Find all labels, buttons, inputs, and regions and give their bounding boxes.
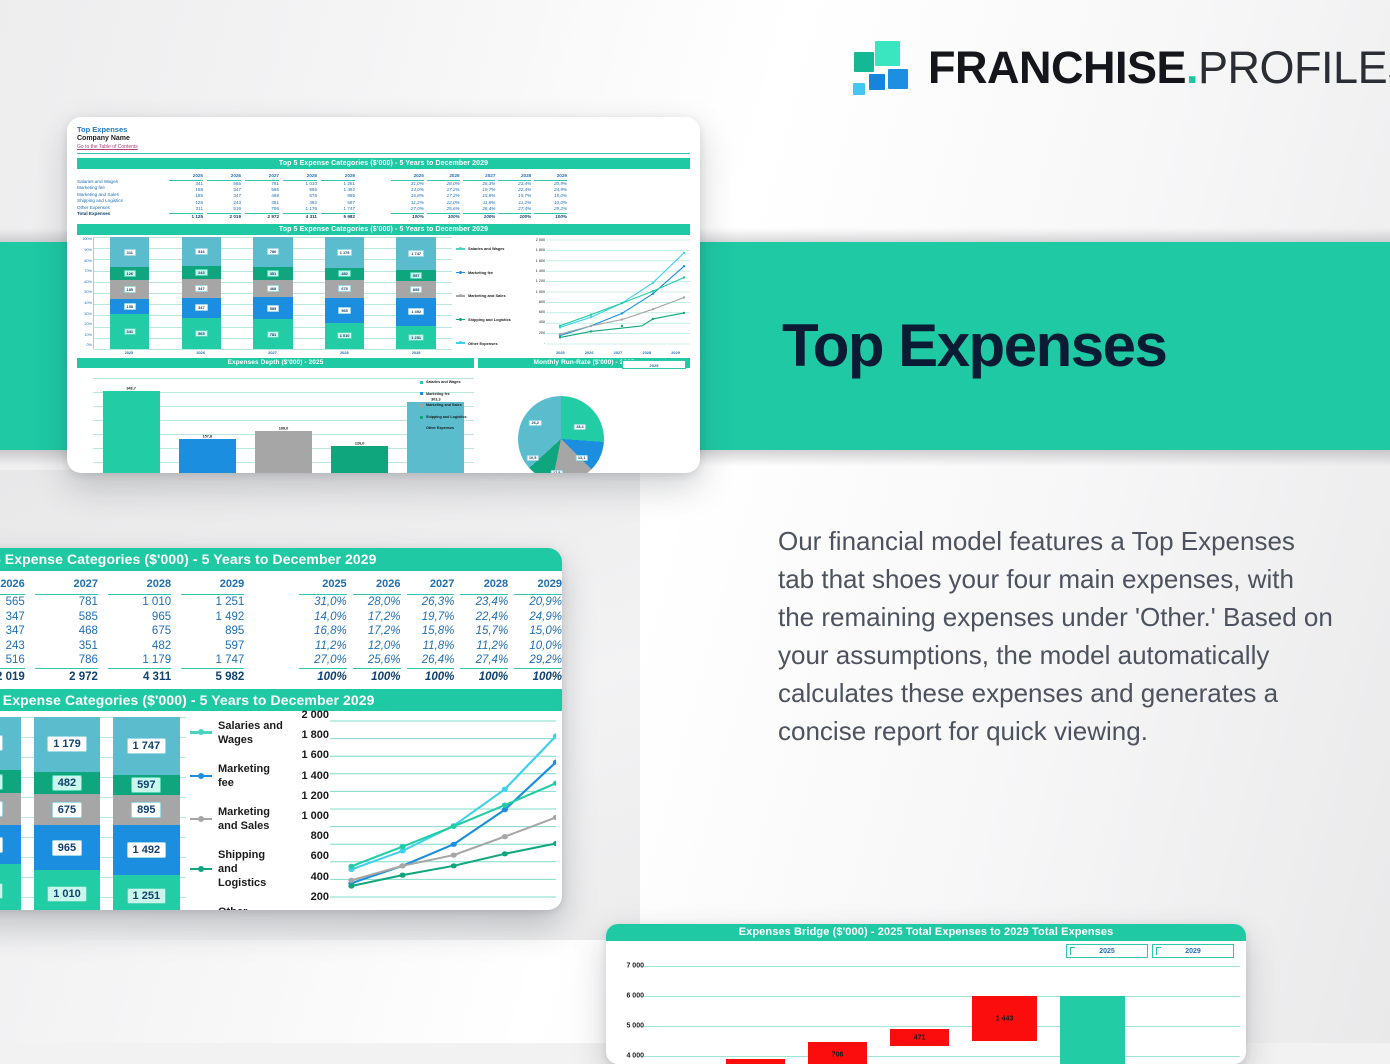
segment-value: 468 [0,801,3,817]
pie-label: 10,5 [526,455,538,461]
table-cell: 781 [35,595,98,610]
column-bar: 189,0 [255,431,312,473]
table-cell: 347 [0,610,25,625]
pct-cell: 31,0% [299,595,347,610]
pct-cell: 27,4% [460,653,508,668]
bar-group: 311 126 185 158 341 516 243 347 347 565 [94,237,452,349]
line-plot-area [546,237,690,355]
axis-tick: 80% [84,259,92,263]
pct-cell: 15,7% [460,624,508,639]
legend-item: Marketing fee [190,762,286,790]
pct-cell-total: 100% [514,668,562,685]
legend-item: Shipping and Logistics [456,317,530,322]
axis-tick: 200 [311,891,329,903]
segment-value: 351 [0,774,3,790]
expense-table: Salaries and Wages Marketing fee Marketi… [77,172,690,220]
expense-table-zoomed: 2026 2027 2028 2029 565 781 1 010 1 251 … [0,571,562,684]
logo-dot: . [1186,42,1198,93]
screenshot-card-categories-detail[interactable]: Top 5 Expense Categories ($'000) - 5 Yea… [0,548,562,910]
logo-square-3 [888,69,908,89]
segment-value: 243 [195,269,208,276]
table-cell: 1 179 [108,653,171,668]
table-gap [355,172,391,220]
x-tick: 2029 [396,350,435,355]
table-cell: 786 [35,653,98,668]
header-divider [77,153,690,154]
axis-tick: 400 [539,320,545,324]
logo-square-2 [854,52,874,72]
line-chart-top: 2 000 1 800 1 600 1 400 1 200 1 000 800 … [530,237,690,355]
segment-value: 675 [52,802,82,818]
axis-tick: 100% [82,237,92,241]
section-band-bridge: Expenses Bridge ($'000) - 2025 Total Exp… [606,924,1246,941]
segment-value: 351 [267,270,280,277]
legend-item: Other Expenses [190,905,286,910]
pct-cell-total: 100% [463,213,496,220]
pct-cell: 19,7% [407,610,455,625]
legend-swatch-icon [190,775,212,778]
segment-value: 341 [124,328,137,335]
table-cell: 565 [0,595,25,610]
column-bar: 157,8 [179,439,236,473]
waterfall-bar: 706 [808,1042,867,1064]
percent-axis: 100% 90% 80% 70% 60% 50% 40% 30% 20% 10%… [77,237,93,355]
segment-value: 965 [52,840,82,856]
axis-tick: 600 [539,310,545,314]
pie-label: 17,5 [550,470,562,473]
segment-value: 1 010 [47,886,87,902]
pct-cell: 12,0% [353,639,401,654]
axis-tick: 1 800 [301,729,329,741]
pie-label: 26,2 [529,420,541,426]
stacked-plot-area: 311 126 185 158 341 516 243 347 347 565 [93,237,452,349]
screenshot-card-expenses-bridge[interactable]: Expenses Bridge ($'000) - 2025 Total Exp… [606,924,1246,1064]
segment-value: 1 492 [127,842,167,858]
percent-grid: 2025 2026 2027 2028 2029 31,0% 28,0% 26,… [299,577,562,684]
axis-tick: 40% [84,301,92,305]
section-band-categories-2: Top 5 Expense Categories ($'000) - 5 Yea… [0,689,562,711]
column-bar: 348,7 [103,391,160,473]
legend-swatch-icon [190,731,212,734]
legend-swatch-icon [420,404,423,407]
column-header: 2029 [514,577,562,595]
bar-group: 786 351 468 585 781 1 179 482 675 965 1 … [0,717,186,910]
pct-cell: 20,9% [514,595,562,610]
segment-value: 1 747 [127,738,167,754]
pct-cell: 11,8% [407,639,455,654]
pct-cell: 11,2% [299,639,347,654]
pct-cell: 15,8% [407,624,455,639]
stacked-bar: 311 126 185 158 341 [110,237,149,349]
axis-tick: 7 000 [626,963,644,970]
pct-cell: 29,2% [514,653,562,668]
table-cell: 351 [35,639,98,654]
table-cell: 1 010 [108,595,171,610]
section-band-depth: Expenses Depth ($'000) - 2025 [77,358,474,368]
table-row-labels: Salaries and Wages Marketing fee Marketi… [77,172,169,220]
axis-tick: 1 600 [301,749,329,761]
section-band-categories-2: Top 5 Expense Categories ($'000) - 5 Yea… [77,224,690,235]
pct-cell-total: 100% [407,668,455,685]
segment-value: 1 251 [127,888,167,904]
stacked-bar-chart-zoomed: 786 351 468 585 781 1 179 482 675 965 1 … [0,711,186,910]
axis-tick: 60% [84,280,92,284]
waterfall-value: 706 [832,1051,844,1058]
pct-cell: 17,2% [353,624,401,639]
axis-tick: 600 [311,850,329,862]
axis-tick: 1 200 [301,790,329,802]
column-header: 2026 [353,577,401,595]
segment-value: 786 [267,248,280,255]
x-tick: 2029 [668,350,684,355]
segment-value: 347 [195,304,208,311]
axis-tick: 0% [87,343,93,347]
segment-value: 1 179 [47,736,87,752]
pct-cell: 17,2% [353,610,401,625]
column-header: 2029 [534,172,567,181]
legend-swatch-icon [190,818,212,821]
stacked-bar: 786 351 468 585 781 [253,237,292,349]
segment-value: 1 251 [408,334,424,341]
pct-cell: 16,8% [299,624,347,639]
y-axis: 2 000 1 800 1 600 1 400 1 200 1 000 800 … [286,711,330,910]
waterfall-bars: 706 471 1 443 [650,941,1236,1064]
legend-swatch-icon [420,427,423,430]
segment-value: 585 [0,837,3,853]
table-of-contents-link[interactable]: Go to the Table of Contents [77,144,690,150]
column-value: 189,0 [279,427,289,431]
segment-value: 781 [267,331,280,338]
pct-cell: 25,6% [353,653,401,668]
legend-swatch-icon [456,319,465,321]
legend-item: Marketing fee [456,270,530,275]
column-header: 2027 [407,577,455,595]
y-axis: 7 000 6 000 5 000 4 000 [610,941,644,1064]
table-cell: 1 747 [181,653,244,668]
segment-value: 597 [131,777,161,793]
stacked-bar: 516 243 347 347 565 [182,237,221,349]
axis-tick: 800 [539,300,545,304]
runrate-year-tag[interactable]: 2025 [622,360,686,369]
waterfall-bar: 1 443 [972,996,1036,1041]
axis-tick: 20% [84,322,92,326]
segment-value: 516 [195,248,208,255]
expenses-depth-chart: 348,7 157,8 189,0 126,0 303,3 Salaries a… [77,370,478,473]
pct-cell: 10,0% [514,639,562,654]
stacked-plot-area: 786 351 468 585 781 1 179 482 675 965 1 … [0,717,186,910]
column-value: 157,8 [203,435,213,439]
sheet-title: Top Expenses [77,125,690,134]
screenshot-card-top-expenses[interactable]: Top Expenses Company Name Go to the Tabl… [67,117,700,473]
pct-cell: 26,4% [407,653,455,668]
column-header: 2027 [463,172,496,181]
logo-squares-icon [852,38,912,96]
axis-tick: 1 600 [536,259,545,263]
axis-tick: 5 000 [626,1023,644,1030]
segment-value: 565 [195,330,208,337]
pct-cell-total: 100% [498,213,531,220]
table-cell: 1 251 [181,595,244,610]
axis-tick: 2 000 [301,709,329,721]
table-cell-total: 5 982 [321,213,355,220]
axis-tick: 6 000 [626,993,644,1000]
table-cell: 243 [0,639,25,654]
waterfall-bar [726,1059,785,1064]
segment-value: 158 [124,303,137,310]
table-cell-total: 2 019 [207,213,241,220]
axis-tick: 1 400 [301,770,329,782]
logo-wordmark: FRANCHISE.PROFILES [928,45,1390,90]
pct-cell-total: 100% [353,668,401,685]
page-title: Top Expenses [782,311,1166,380]
table-cell-total: 5 982 [181,668,244,685]
pct-cell: 24,9% [514,610,562,625]
pct-cell-total: 100% [427,213,460,220]
table-cell: 1 492 [181,610,244,625]
x-axis-categories: 2025 2026 2027 2028 2029 [546,350,690,355]
intro-paragraph: Our financial model features a Top Expen… [778,522,1334,750]
values-grid: 2026 2027 2028 2029 565 781 1 010 1 251 … [0,577,244,684]
pie-label: 28,4 [574,424,586,430]
axis-tick: 10% [84,333,92,337]
line-plot-area [330,717,556,910]
logo-square-5 [853,83,865,95]
axis-tick: 70% [84,269,92,273]
pct-cell: 11,2% [460,639,508,654]
segment-value: 675 [338,285,351,292]
axis-tick: 90% [84,248,92,252]
row-label-total: Total Expenses [77,211,169,217]
axis-tick: 4 000 [626,1053,644,1060]
waterfall-plot: 7 000 6 000 5 000 4 000 706 471 1 443 [606,941,1246,1064]
column-header: 2029 [181,577,244,595]
segment-value: 786 [0,735,3,751]
column-header: 2029 [321,172,355,181]
pct-cell-total: 100% [391,213,424,220]
legend-item: Shipping and Logistics [190,848,286,890]
table-cell: 468 [35,624,98,639]
legend-item: Other Expenses [420,426,482,431]
column-header: 2028 [460,577,508,595]
chart-legend: Salaries and Wages Marketing fee Marketi… [186,711,286,910]
x-tick: 2025 [109,350,148,355]
column-header: 2025 [299,577,347,595]
segment-value: 311 [124,249,136,256]
pct-cell: 27,0% [299,653,347,668]
axis-tick: 50% [84,290,92,294]
waterfall-value: 471 [914,1034,926,1041]
pie-label: 13,1 [575,455,587,461]
column-header: 2027 [245,172,279,181]
axis-tick: 1 400 [536,269,545,273]
axis-tick: 200 [539,331,545,335]
x-tick: 2025 [552,350,568,355]
x-tick: 2028 [639,350,655,355]
depth-legend: Salaries and Wages Marketing fee Marketi… [420,380,482,438]
axis-tick: 1 000 [301,810,329,822]
lower-band-row: Expenses Depth ($'000) - 2025 Monthly Ru… [77,358,690,368]
column-header: 2027 [35,577,98,595]
column-header: 2026 [0,577,25,595]
legend-item: Salaries and Wages [456,246,530,251]
pct-cell-total: 100% [534,213,567,220]
pie-wrapper: 28,4 13,1 17,5 10,5 26,2 [518,396,604,473]
table-cell: 585 [35,610,98,625]
column-header: 2028 [108,577,171,595]
segment-value: 895 [131,802,161,818]
axis-tick: 1 200 [536,279,545,283]
segment-value: 482 [338,270,351,277]
segment-value: 1 492 [408,308,424,315]
table-cell-total: 2 019 [0,668,25,685]
column-header: 2026 [427,172,460,181]
column-value: 126,0 [355,442,365,446]
legend-item: Salaries and Wages [190,719,286,747]
axis-tick: 2 000 [536,238,545,242]
table-cell: 347 [0,624,25,639]
stacked-bar: 1 179 482 675 965 1 010 [34,717,101,910]
logo-square-1 [875,41,900,66]
legend-item: Other Expenses [456,341,530,346]
table-cell: 516 [0,653,25,668]
axis-tick: 800 [311,830,329,842]
x-tick: 2026 [581,350,597,355]
legend-swatch-icon [190,868,212,871]
axis-tick: 1 000 [536,290,545,294]
table-cell: 597 [181,639,244,654]
pct-cell: 26,3% [407,595,455,610]
pie-slices [518,396,604,473]
legend-swatch-icon [456,295,465,297]
logo-square-4 [869,74,885,90]
column-bar: 126,0 [331,446,388,473]
table-cell-total: 2 972 [35,668,98,685]
waterfall-total-bar [1060,996,1124,1064]
pct-cell: 15,0% [514,624,562,639]
logo-word-bold: FRANCHISE [928,42,1186,93]
legend-item: Salaries and Wages [420,380,482,385]
stacked-bar: 1 179 482 675 965 1 010 [325,237,364,349]
x-tick: 2028 [325,350,364,355]
section-band-categories-1: Top 5 Expense Categories ($'000) - 5 Yea… [0,548,562,571]
table-cell-total: 4 311 [283,213,317,220]
table-cell-total: 2 972 [245,213,279,220]
column-header: 2028 [498,172,531,181]
axis-tick: - [544,341,545,345]
segment-value: 585 [267,305,280,312]
segment-value: 1 010 [337,332,353,339]
legend-swatch-icon [456,248,465,250]
pct-cell: 14,0% [299,610,347,625]
charts-row: 786 351 468 585 781 1 179 482 675 965 1 … [0,711,562,910]
segment-value: 781 [0,883,3,899]
pct-cell: 28,0% [353,595,401,610]
brand-logo: FRANCHISE.PROFILES [852,38,1390,96]
segment-value: 1 747 [408,250,424,257]
x-axis-categories: 2025 2026 2027 2028 2029 [93,350,452,355]
segment-value: 347 [195,285,208,292]
logo-word-light: PROFILES [1198,42,1390,93]
y-axis: 2 000 1 800 1 600 1 400 1 200 1 000 800 … [530,237,546,343]
segment-value: 482 [52,775,82,791]
legend-item: Shipping and Logistics [420,415,482,420]
pct-cell-total: 100% [460,668,508,685]
stacked-bar: 786 351 468 585 781 [0,717,21,910]
percent-grid: 2025 2026 2027 2028 2029 31,0% 28,0% 26,… [391,172,567,220]
pct-cell: 22,4% [460,610,508,625]
axis-tick: 400 [311,871,329,883]
waterfall-bar: 471 [890,1029,949,1046]
legend-swatch-icon [420,381,423,384]
segment-value: 895 [410,286,423,293]
column-header: 2025 [169,172,203,181]
segment-value: 597 [410,272,423,279]
waterfall-value: 1 443 [996,1015,1014,1022]
pct-cell: 23,4% [460,595,508,610]
table-cell: 965 [108,610,171,625]
chart-legend: Salaries and Wages Marketing fee Marketi… [452,237,530,355]
x-tick: 2027 [610,350,626,355]
column-value: 348,7 [126,387,136,391]
table-cell-total: 1 125 [169,213,203,220]
segment-value: 468 [267,285,280,292]
column-header: 2026 [207,172,241,181]
legend-item: Marketing fee [420,392,482,397]
legend-swatch-icon [456,272,465,274]
legend-item: Marketing and Sales [456,293,530,298]
axis-tick: 1 800 [536,248,545,252]
table-cell: 675 [108,624,171,639]
column-group: 348,7 157,8 189,0 126,0 303,3 [93,378,474,473]
legend-item: Marketing and Sales [190,805,286,833]
company-name: Company Name [77,135,690,142]
section-band-categories-1: Top 5 Expense Categories ($'000) - 5 Yea… [77,158,690,169]
segment-value: 185 [124,286,137,293]
pct-cell-total: 100% [299,668,347,685]
stacked-bar-chart-top: 100% 90% 80% 70% 60% 50% 40% 30% 20% 10%… [77,237,690,355]
segment-value: 965 [338,307,351,314]
legend-swatch-icon [456,342,465,344]
legend-item: Marketing and Sales [420,403,482,408]
legend-swatch-icon [420,392,423,395]
stacked-bar: 1 747 597 895 1 492 1 251 [396,237,435,349]
lower-chart-row: 348,7 157,8 189,0 126,0 303,3 Salaries a… [77,370,690,473]
table-cell: 895 [181,624,244,639]
column-header: 2025 [391,172,424,181]
line-chart-zoomed: 2 000 1 800 1 600 1 400 1 200 1 000 800 … [286,711,562,910]
monthly-run-rate-pie-chart: 2025 28,4 13,1 17,5 10,5 26,2 [478,370,690,473]
legend-swatch-icon [420,416,423,419]
segment-value: 126 [124,270,137,277]
column-header: 2028 [283,172,317,181]
table-cell: 482 [108,639,171,654]
x-tick: 2026 [181,350,220,355]
x-tick: 2027 [253,350,292,355]
axis-tick: 30% [84,312,92,316]
table-cell-total: 4 311 [108,668,171,685]
values-grid: 2025 2026 2027 2028 2029 341 565 781 1 0… [169,172,355,220]
segment-value: 1 179 [337,249,353,256]
stacked-bar: 1 747 597 895 1 492 1 251 [113,717,180,910]
